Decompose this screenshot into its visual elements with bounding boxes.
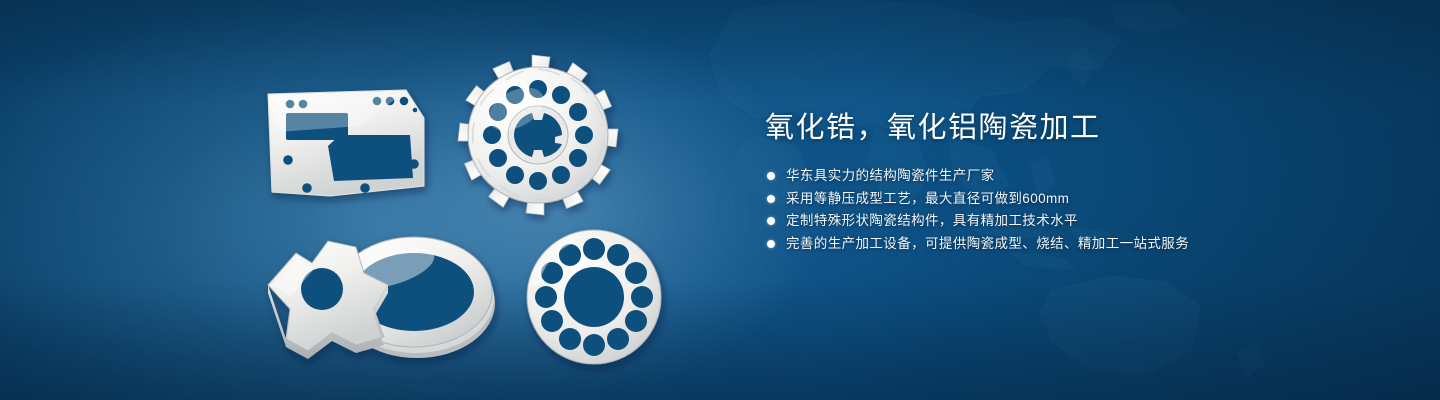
list-item-label: 定制特殊形状陶瓷结构件，具有精加工技术水平 <box>786 210 1078 233</box>
ceramic-impeller-photo <box>458 55 618 215</box>
ceramic-plate-photo <box>268 90 424 196</box>
banner-copy: 氧化锆，氧化铝陶瓷加工 华东具实力的结构陶瓷件生产厂家 采用等静压成型工艺，最大… <box>765 108 1385 255</box>
bullet-dot-icon <box>767 240 775 248</box>
list-item-label: 完善的生产加工设备，可提供陶瓷成型、烧结、精加工一站式服务 <box>786 233 1189 256</box>
page-title: 氧化锆，氧化铝陶瓷加工 <box>765 108 1385 148</box>
list-item: 华东具实力的结构陶瓷件生产厂家 <box>765 165 1385 188</box>
bullet-dot-icon <box>767 172 775 180</box>
bullet-dot-icon <box>767 217 775 225</box>
hero-banner: 氧化锆，氧化铝陶瓷加工 华东具实力的结构陶瓷件生产厂家 采用等静压成型工艺，最大… <box>0 0 1440 400</box>
list-item: 采用等静压成型工艺，最大直径可做到600mm <box>765 188 1385 211</box>
bullet-dot-icon <box>767 195 775 203</box>
ceramic-cross-plate-and-rings-photo <box>268 237 495 359</box>
list-item: 定制特殊形状陶瓷结构件，具有精加工技术水平 <box>765 210 1385 233</box>
list-item-label: 采用等静压成型工艺，最大直径可做到600mm <box>786 188 1069 211</box>
product-photo-group <box>0 0 720 400</box>
list-item-label: 华东具实力的结构陶瓷件生产厂家 <box>786 165 995 188</box>
ceramic-hole-disc-photo <box>527 230 661 364</box>
feature-list: 华东具实力的结构陶瓷件生产厂家 采用等静压成型工艺，最大直径可做到600mm 定… <box>765 165 1385 255</box>
list-item: 完善的生产加工设备，可提供陶瓷成型、烧结、精加工一站式服务 <box>765 233 1385 256</box>
